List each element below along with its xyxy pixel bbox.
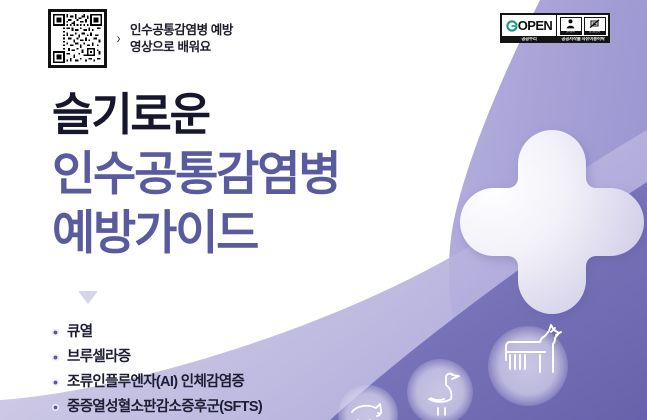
qr-caption: 인수공통감염병 예방 영상으로 배워요	[130, 23, 233, 54]
qr-code-icon[interactable]	[48, 9, 107, 68]
duck-icon	[429, 374, 459, 415]
triangle-down-marker	[78, 291, 98, 304]
no-commercial-glyph	[589, 19, 600, 29]
picto-caption-1: 출처표시	[561, 31, 581, 34]
picto-caption-2: 상업용금지	[585, 31, 605, 34]
poster-root: › 인수공통감염병 예방 영상으로 배워요 OPEN	[0, 0, 647, 420]
open-mark-text: OPEN	[518, 19, 552, 32]
title-line-1: 슬기로운	[52, 92, 339, 137]
person-attribution-icon: 출처표시	[560, 17, 582, 35]
blob-cow	[488, 326, 568, 406]
badge-sub-right: 공공저작물 자유이용허락	[557, 37, 609, 41]
person-glyph	[565, 19, 576, 29]
bottom-dark-wedge	[330, 182, 647, 420]
list-item-label: 브루셀라증	[67, 350, 130, 366]
open-circle-icon	[506, 20, 518, 32]
disease-list: 큐열 브루셀라증 조류인플루엔자(AI) 인체감염증 중증열성혈소판감소증후군(…	[52, 325, 262, 420]
badge-top-row: OPEN 출처표시 상업용금지	[502, 15, 608, 36]
bullet-icon	[52, 329, 59, 336]
pig-icon	[352, 404, 381, 420]
right-purple-panel	[449, 0, 647, 420]
kogl-pictograms: 출처표시 상업용금지	[557, 15, 608, 36]
list-item: 브루셀라증	[52, 350, 262, 366]
badge-bottom-row: 공공누리 공공저작물 자유이용허락	[501, 36, 609, 42]
qr-header-block[interactable]: › 인수공통감염병 예방 영상으로 배워요	[48, 9, 233, 68]
blob-duck	[407, 359, 473, 420]
page-title: 슬기로운 인수공통감염병 예방가이드	[52, 92, 339, 256]
list-item: 중증열성혈소판감소증후군(SFTS)	[52, 400, 262, 416]
cow-icon	[506, 325, 561, 372]
paw-print-icon	[460, 130, 644, 314]
badge-sub-left: 공공누리	[501, 37, 557, 41]
blob-pig	[338, 385, 398, 420]
bullet-icon	[52, 379, 59, 386]
no-commercial-use-icon: 상업용금지	[584, 17, 606, 35]
open-kogl-badge[interactable]: OPEN 출처표시 상업용금지	[500, 13, 610, 43]
list-item-label: 중증열성혈소판감소증후군(SFTS)	[67, 400, 262, 416]
bullet-icon	[52, 404, 59, 411]
list-item-label: 큐열	[67, 325, 92, 341]
bullet-icon	[52, 354, 59, 361]
qr-caption-line-1: 인수공통감염병 예방	[130, 23, 233, 37]
chevron-right-icon: ›	[117, 31, 121, 46]
open-mark: OPEN	[502, 15, 557, 36]
list-item: 큐열	[52, 325, 262, 341]
qr-code-matrix	[53, 14, 102, 63]
qr-caption-line-2: 영상으로 배워요	[130, 40, 233, 54]
list-item-label: 조류인플루엔자(AI) 인체감염증	[67, 375, 244, 391]
title-line-3: 예방가이드	[52, 209, 339, 256]
list-item: 조류인플루엔자(AI) 인체감염증	[52, 375, 262, 391]
title-line-2: 인수공통감염병	[52, 150, 339, 197]
